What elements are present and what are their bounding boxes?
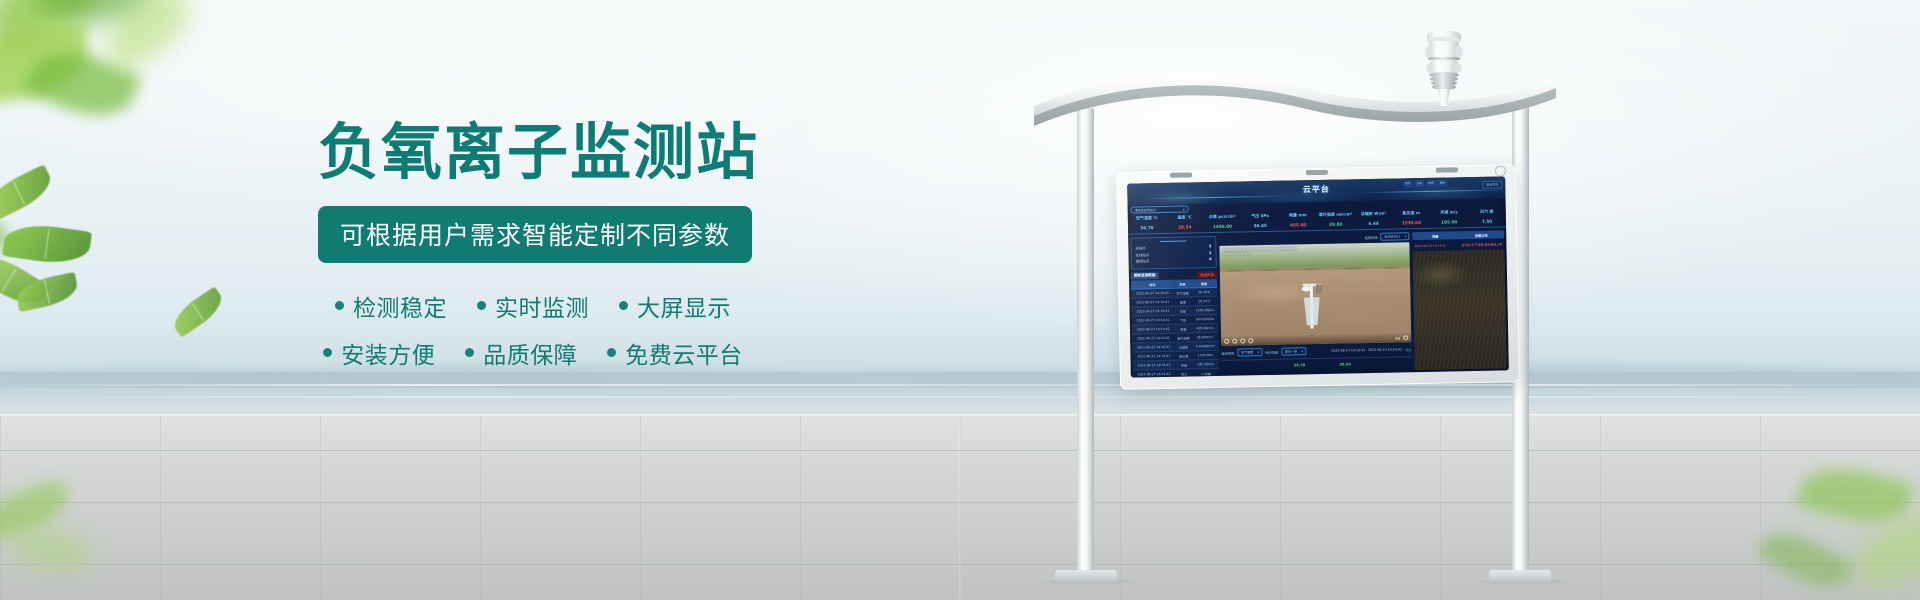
cell-item: 温度 xyxy=(1174,297,1192,306)
monitoring-station-kiosk: 云平台 首页 设备 数据 报警 退出登录 请选择监测站点 空气湿度 xyxy=(0,0,1920,600)
header-nav-chips[interactable]: 首页 设备 数据 报警 xyxy=(1403,180,1448,188)
stat-row: 离线站点 0 xyxy=(1136,257,1212,263)
metric-label: 温度 ℃ xyxy=(1166,214,1204,221)
header-chip[interactable]: 报警 xyxy=(1437,180,1447,187)
ultrasonic-weather-sensor xyxy=(1414,28,1474,104)
hook-ring-icon xyxy=(1495,165,1506,176)
feature-item: 品质保障 xyxy=(465,336,577,370)
alarm-tab[interactable]: 报警 xyxy=(1412,231,1458,240)
alarm-time: 2022-06-23 14:14:41 xyxy=(1414,243,1452,248)
stat-label: 在线站点 xyxy=(1135,252,1149,257)
realtime-data-table: 时间 项目 数值 2022-06-23 14:14:41空气湿度56.70% 2… xyxy=(1131,279,1219,378)
hero-banner: 负氧离子监测站 可根据用户需求智能定制不同参数 检测稳定 实时监测 大屏显示 xyxy=(0,0,1920,600)
station-select[interactable]: 请选择监测站点 xyxy=(1131,205,1189,213)
cell-item: 能见度 xyxy=(1175,351,1193,360)
cell-item: 风力 xyxy=(1175,369,1193,378)
header-chip[interactable]: 首页 xyxy=(1403,180,1413,187)
metric-card: 气压 kPa 96.45 xyxy=(1241,213,1279,229)
cell-item: 风速 xyxy=(1175,360,1193,369)
bullet-dot-icon xyxy=(619,301,628,310)
metric-label: 风速 m/s xyxy=(1430,209,1468,216)
metric-value: 7.50 xyxy=(1468,218,1506,224)
cell-item: 雨量 xyxy=(1174,324,1192,333)
panel-title: 最新监测数据 xyxy=(1131,272,1159,280)
header-chip[interactable]: 设备 xyxy=(1414,180,1424,187)
bullet-dot-icon xyxy=(323,348,332,357)
alarm-message: 监测站 空气湿度 超出阈值上限 xyxy=(1454,242,1502,247)
play-icon[interactable] xyxy=(1224,339,1229,344)
hero-copy: 负氧离子监测站 可根据用户需求智能定制不同参数 检测稳定 实时监测 大屏显示 xyxy=(318,120,748,370)
bullet-dot-icon xyxy=(335,301,344,310)
cell-item: 紫外强度 xyxy=(1175,333,1193,342)
chart-toolbar: 监测项目 空气湿度 时间范围 最近一周 2022-06-17 14:14:41 … xyxy=(1221,345,1411,357)
stat-row: 总站点 2 xyxy=(1135,244,1211,250)
dashboard-body: 总站点 2 在线站点 2 离线站点 0 xyxy=(1128,227,1509,377)
subtitle-pill: 可根据用户需求智能定制不同参数 xyxy=(318,206,752,263)
metric-card: 能见度 m 1530.00 xyxy=(1392,210,1430,226)
metric-label: 气压 kPa xyxy=(1241,213,1279,220)
metric-label: 负氧 pcs/cm³ xyxy=(1203,213,1241,220)
metric-card: 紫外强度 uw/cm² 29.80 xyxy=(1317,211,1355,227)
feature-item: 安装方便 xyxy=(323,336,435,370)
chart-metric-select[interactable]: 空气湿度 xyxy=(1237,348,1262,356)
volume-icon[interactable] xyxy=(1248,338,1253,343)
stat-value: 2 xyxy=(1209,244,1211,249)
metric-value: 56.70 xyxy=(1128,225,1166,231)
metric-value: 6.44 xyxy=(1355,221,1393,227)
camera-label: 监控视频 xyxy=(1365,234,1378,239)
metric-card: 温度 ℃ 28.54 xyxy=(1166,214,1204,230)
metric-value: 28.54 xyxy=(1166,224,1204,230)
feature-label: 免费云平台 xyxy=(625,336,743,370)
feature-item: 大屏显示 xyxy=(619,289,731,323)
outdoor-display-housing: 云平台 首页 设备 数据 报警 退出登录 请选择监测站点 空气湿度 xyxy=(1116,164,1520,390)
left-panel: 总站点 2 在线站点 2 离线站点 0 xyxy=(1130,236,1219,376)
chart-range-select[interactable]: 最近一周 xyxy=(1281,347,1306,355)
alarm-tab[interactable]: 报警记录 xyxy=(1458,230,1504,239)
mount-tab xyxy=(1170,172,1192,177)
trend-chart: 56.70 28.54 xyxy=(1222,356,1412,374)
metric-value: 29.80 xyxy=(1317,221,1355,227)
metric-label: 空气湿度 % xyxy=(1128,215,1166,222)
secondary-camera-feed[interactable] xyxy=(1413,249,1507,370)
metric-value: 405.60 xyxy=(1279,222,1317,228)
feature-label: 检测稳定 xyxy=(353,289,447,323)
cell-item: 负氧 xyxy=(1174,306,1192,315)
camera-video-feed[interactable]: 负氧离子监测站 ZA-JCZ(FYGGKN01-Z0L01)负氧离子监测站 20… xyxy=(1219,242,1411,346)
cell-item: 总辐射 xyxy=(1175,342,1193,351)
stat-label: 离线站点 xyxy=(1136,258,1150,263)
stat-label: 总站点 xyxy=(1135,245,1145,250)
feature-label: 大屏显示 xyxy=(637,289,731,323)
chart-export-button[interactable]: 导出 xyxy=(1405,347,1411,352)
feature-item: 免费云平台 xyxy=(607,336,743,370)
metric-value: 1530.00 xyxy=(1393,220,1431,226)
alarm-tabs[interactable]: 报警 报警记录 xyxy=(1412,230,1504,240)
metric-card: 风速 m/s 185.00 xyxy=(1430,209,1468,225)
metric-card: 风力 级 7.50 xyxy=(1468,208,1506,224)
bullet-dot-icon xyxy=(477,301,486,310)
metric-label: 能见度 m xyxy=(1392,210,1430,217)
video-weather-station xyxy=(1298,280,1326,333)
realtime-panel-header: 最新监测数据 数据异常 xyxy=(1131,270,1217,279)
center-panel: 监控视频 监测站点01 xyxy=(1219,232,1412,374)
header-chip[interactable]: 数据 xyxy=(1426,180,1436,187)
record-icon[interactable] xyxy=(1240,338,1245,343)
cell-value: 7.50级 xyxy=(1193,369,1219,378)
stat-value: 0 xyxy=(1209,257,1211,262)
feature-label: 实时监测 xyxy=(495,289,589,323)
fullscreen-icon[interactable] xyxy=(1403,335,1408,340)
feature-row: 检测稳定 实时监测 大屏显示 xyxy=(335,289,731,323)
metric-label: 雨量 mm xyxy=(1279,212,1317,219)
snapshot-icon[interactable] xyxy=(1232,339,1237,344)
chart-value-label: 56.70 xyxy=(1294,363,1305,367)
feature-label: 品质保障 xyxy=(483,336,577,370)
chart-value-label: 28.54 xyxy=(1339,362,1350,366)
metric-value: 96.45 xyxy=(1241,223,1279,229)
metric-value: 185.00 xyxy=(1430,219,1468,225)
curved-canopy-roof xyxy=(1030,72,1560,124)
metric-label: 紫外强度 uw/cm² xyxy=(1317,211,1355,218)
metric-card: 空气湿度 % 56.70 xyxy=(1128,215,1166,231)
feature-row: 安装方便 品质保障 免费云平台 xyxy=(323,336,743,370)
cloud-platform-dashboard: 云平台 首页 设备 数据 报警 退出登录 请选择监测站点 空气湿度 xyxy=(1127,176,1509,377)
right-post-base xyxy=(1489,570,1551,584)
cell-item: 空气湿度 xyxy=(1174,288,1192,297)
page-title: 负氧离子监测站 xyxy=(318,120,748,186)
table-body: 2022-06-23 14:14:41空气湿度56.70% 2022-06-23… xyxy=(1131,288,1219,378)
mount-tab xyxy=(1436,167,1458,172)
chart-metric-label: 监测项目 xyxy=(1221,350,1234,355)
chart-range-to: 2022-06-23 14:14:41 xyxy=(1368,347,1402,352)
cell-item: 气压 xyxy=(1174,315,1192,324)
stat-value: 2 xyxy=(1209,251,1211,256)
stat-row: 在线站点 2 xyxy=(1135,251,1211,257)
station-stats-card: 总站点 2 在线站点 2 离线站点 0 xyxy=(1130,236,1217,269)
logout-button[interactable]: 退出登录 xyxy=(1482,180,1502,188)
video-quality-label[interactable]: 高清 xyxy=(1395,336,1400,340)
metric-value: 1456.00 xyxy=(1204,223,1242,229)
table-row[interactable]: 2022-06-23 14:14:41风力7.50级 xyxy=(1133,369,1219,378)
chart-range-from: 2022-06-17 14:14:41 xyxy=(1331,348,1365,353)
mount-tab xyxy=(1306,170,1328,175)
metric-card: 负氧 pcs/cm³ 1456.00 xyxy=(1203,213,1241,229)
right-panel: 报警 报警记录 2022-06-23 14:14:41 监测站 空气湿度 超出阈… xyxy=(1412,230,1507,370)
column-header: 项目 xyxy=(1174,279,1192,288)
left-post xyxy=(1077,108,1094,576)
cell-time: 2022-06-23 14:14:41 xyxy=(1133,369,1176,377)
dashboard-title: 云平台 xyxy=(1127,180,1505,198)
feature-list: 检测稳定 实时监测 大屏显示 安装方便 品质保障 xyxy=(318,289,748,370)
feature-item: 实时监测 xyxy=(477,289,589,323)
metric-card: 雨量 mm 405.60 xyxy=(1279,212,1317,228)
metric-label: 总辐射 W/m² xyxy=(1355,211,1393,218)
bullet-dot-icon xyxy=(607,348,616,357)
video-overlay-text: 负氧离子监测站 ZA-JCZ(FYGGKN01-Z0L01)负氧离子监测站 20… xyxy=(1222,246,1296,256)
metric-label: 风力 级 xyxy=(1468,208,1506,215)
dashboard-header: 云平台 首页 设备 数据 报警 退出登录 xyxy=(1127,176,1505,205)
display-screen[interactable]: 云平台 首页 设备 数据 报警 退出登录 请选择监测站点 空气湿度 xyxy=(1127,176,1509,377)
bullet-dot-icon xyxy=(465,348,474,357)
panel-alert-badge[interactable]: 数据异常 xyxy=(1197,270,1217,277)
metric-card: 总辐射 W/m² 6.44 xyxy=(1355,211,1393,227)
camera-station-select[interactable]: 监测站点01 xyxy=(1380,232,1409,241)
left-post-base xyxy=(1055,570,1117,584)
chart-range-label: 时间范围 xyxy=(1265,349,1278,354)
feature-item: 检测稳定 xyxy=(335,289,447,323)
alarm-row[interactable]: 2022-06-23 14:14:41 监测站 空气湿度 超出阈值上限 xyxy=(1412,240,1504,249)
feature-label: 安装方便 xyxy=(341,336,435,370)
